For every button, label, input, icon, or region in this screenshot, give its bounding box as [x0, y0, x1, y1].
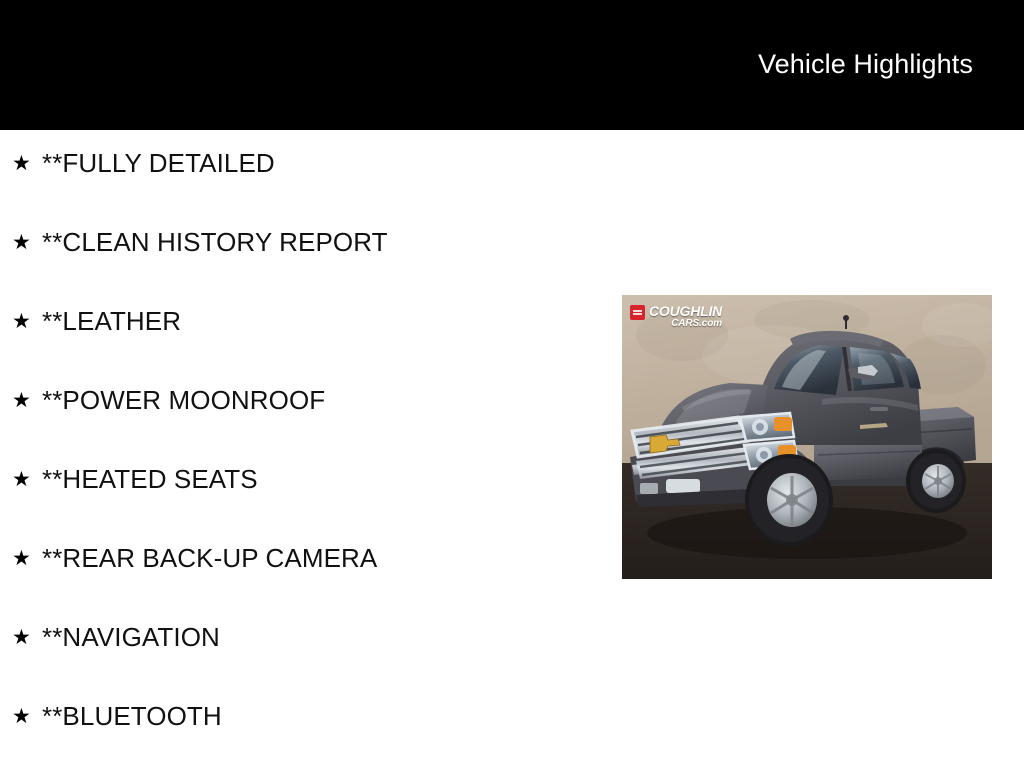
list-item: ★ **LEATHER — [12, 306, 181, 336]
star-icon: ★ — [12, 548, 42, 569]
highlight-label: **POWER MOONROOF — [42, 385, 325, 415]
highlight-label: **NAVIGATION — [42, 622, 220, 652]
highlight-label: **REAR BACK-UP CAMERA — [42, 543, 377, 573]
list-item: ★ **HEATED SEATS — [12, 464, 258, 494]
highlight-label: **FULLY DETAILED — [42, 148, 275, 178]
star-icon: ★ — [12, 627, 42, 648]
highlight-label: **CLEAN HISTORY REPORT — [42, 227, 388, 257]
list-item: ★ **POWER MOONROOF — [12, 385, 325, 415]
highlight-label: **HEATED SEATS — [42, 464, 258, 494]
star-icon: ★ — [12, 311, 42, 332]
header-bar: Vehicle Highlights — [0, 0, 1024, 130]
page-title: Vehicle Highlights — [758, 49, 973, 79]
star-icon: ★ — [12, 153, 42, 174]
list-item: ★ **BLUETOOTH — [12, 701, 222, 731]
vehicle-highlights-page: Vehicle Highlights ★ **FULLY DETAILED ★ … — [0, 0, 1024, 768]
vehicle-photo-illustration — [622, 295, 992, 579]
star-icon: ★ — [12, 706, 42, 727]
highlight-label: **BLUETOOTH — [42, 701, 222, 731]
star-icon: ★ — [12, 232, 42, 253]
vehicle-photo: COUGHLIN CARS.com — [622, 295, 992, 579]
list-item: ★ **NAVIGATION — [12, 622, 220, 652]
list-item: ★ **REAR BACK-UP CAMERA — [12, 543, 377, 573]
highlight-label: **LEATHER — [42, 306, 181, 336]
star-icon: ★ — [12, 390, 42, 411]
star-icon: ★ — [12, 469, 42, 490]
list-item: ★ **FULLY DETAILED — [12, 148, 275, 178]
list-item: ★ **CLEAN HISTORY REPORT — [12, 227, 388, 257]
